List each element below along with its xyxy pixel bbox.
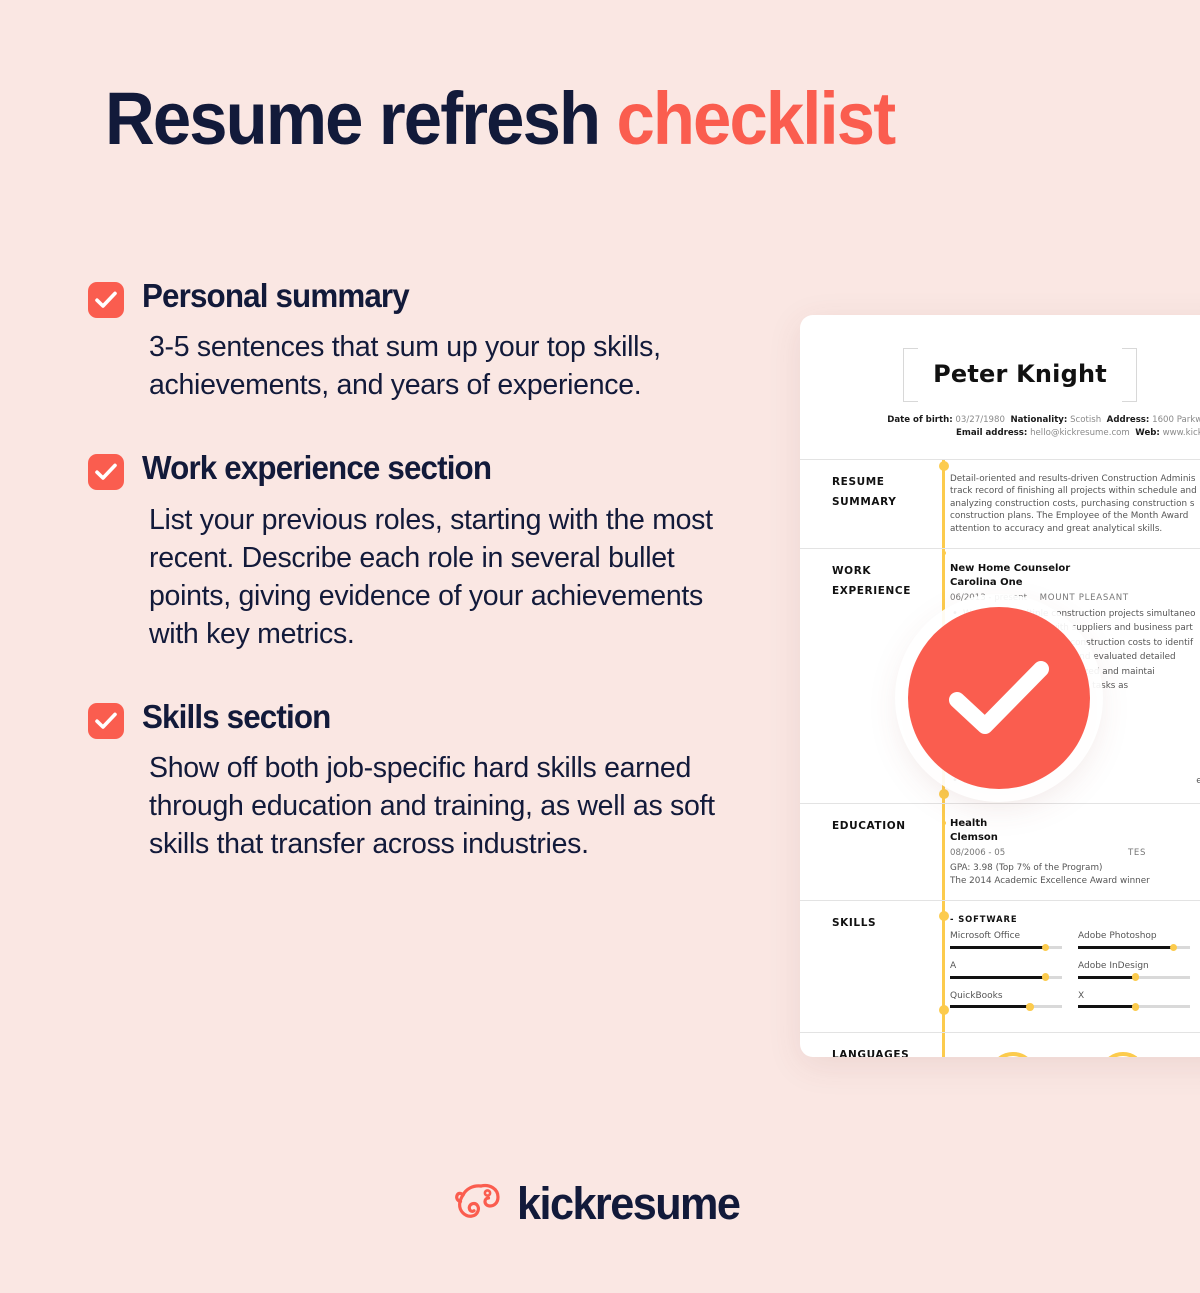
language-item: 100 % English [984,1050,1042,1057]
section-content-skills: - SOFTWARE Microsoft Office Adobe Photos… [928,914,1200,1019]
checklist-item-header: Skills section [88,699,748,735]
resume-section-summary: RESUME SUMMARY Detail-oriented and resul… [800,459,1200,548]
skills-category-label: - SOFTWARE [950,914,1200,926]
checklist-item-title: Work experience section [142,450,491,486]
checklist-item-title: Skills section [142,699,330,735]
contact-value-dob: 03/27/1980 [955,415,1005,425]
contact-value-email: hello@kickresume.com [1030,428,1130,438]
section-content-education: Health Clemson 08/2006 - 05 TES GPA: 3.9… [928,817,1200,888]
skill-item: Adobe InDesign [1078,960,1200,979]
checklist-item-description: List your previous roles, starting with … [149,501,748,653]
resume-section-skills: SKILLS - SOFTWARE Microsoft Office Adobe… [800,900,1200,1032]
contact-value-nationality: Scotish [1070,415,1101,425]
checklist-item-description: Show off both job-specific hard skills e… [149,749,748,863]
resume-candidate-name: Peter Knight [933,360,1107,388]
section-content-summary: Detail-oriented and results-driven Const… [928,473,1200,535]
resume-name-header: Peter Knight [800,348,1200,400]
skill-item: A [950,960,1078,979]
checkbox-checked-icon[interactable] [88,703,124,739]
language-progress-ring: 100 % [987,1050,1039,1057]
poster-canvas: Resume refresh checklist Personal summar… [0,0,1200,1293]
checklist-item-header: Personal summary [88,278,748,314]
contact-label-email: Email address: [956,428,1027,438]
resume-section-education: EDUCATION Health Clemson 08/2006 - 05 TE… [800,803,1200,901]
brand-name: kickresume [517,1178,739,1230]
checklist-item-description: 3-5 sentences that sum up your top skill… [149,328,748,404]
language-progress-ring: 70 % [1097,1050,1149,1057]
language-item: 70 % Spanish [1094,1050,1152,1057]
section-label-skills: SKILLS [800,914,928,1019]
section-label-summary: RESUME SUMMARY [800,473,928,535]
checkbox-checked-icon[interactable] [88,454,124,490]
skill-item: QuickBooks [950,990,1078,1009]
skill-item: Microsoft Office [950,930,1078,949]
checklist-item-title: Personal summary [142,278,409,314]
checkbox-checked-icon[interactable] [88,282,124,318]
chameleon-logo-icon [451,1175,503,1232]
skill-item: Adobe Photoshop [1078,930,1200,949]
list-item: Skills section Show off both job-specifi… [88,699,748,863]
page-title-part1: Resume refresh [105,77,616,160]
resume-section-languages: LANGUAGES 100 % [800,1032,1200,1057]
footer-brand: kickresume [0,1175,1200,1232]
contact-value-web: www.kickresume.co [1163,428,1200,438]
section-label-work-experience: WORK EXPERIENCE [800,562,928,790]
list-item: Work experience section List your previo… [88,450,748,652]
contact-label-nationality: Nationality: [1010,415,1067,425]
contact-label-dob: Date of birth: [887,415,953,425]
resume-contact-block: Date of birth: 03/27/1980 Nationality: S… [800,414,1200,441]
section-label-education: EDUCATION [800,817,928,888]
skill-item: X [1078,990,1200,1009]
contact-label-web: Web: [1135,428,1160,438]
section-content-languages: 100 % English [928,1046,1200,1057]
page-title-part2: checklist [616,77,894,160]
skills-grid: Microsoft Office Adobe Photoshop A [950,930,1200,1019]
page-title: Resume refresh checklist [105,82,894,156]
list-item: Personal summary 3-5 sentences that sum … [88,278,748,404]
check-circle-icon [908,607,1090,789]
contact-value-address: 1600 Parkway, 9504 [1152,415,1200,425]
section-label-languages: LANGUAGES [800,1046,928,1057]
checklist: Personal summary 3-5 sentences that sum … [88,278,748,909]
contact-label-address: Address: [1107,415,1150,425]
checklist-item-header: Work experience section [88,450,748,486]
